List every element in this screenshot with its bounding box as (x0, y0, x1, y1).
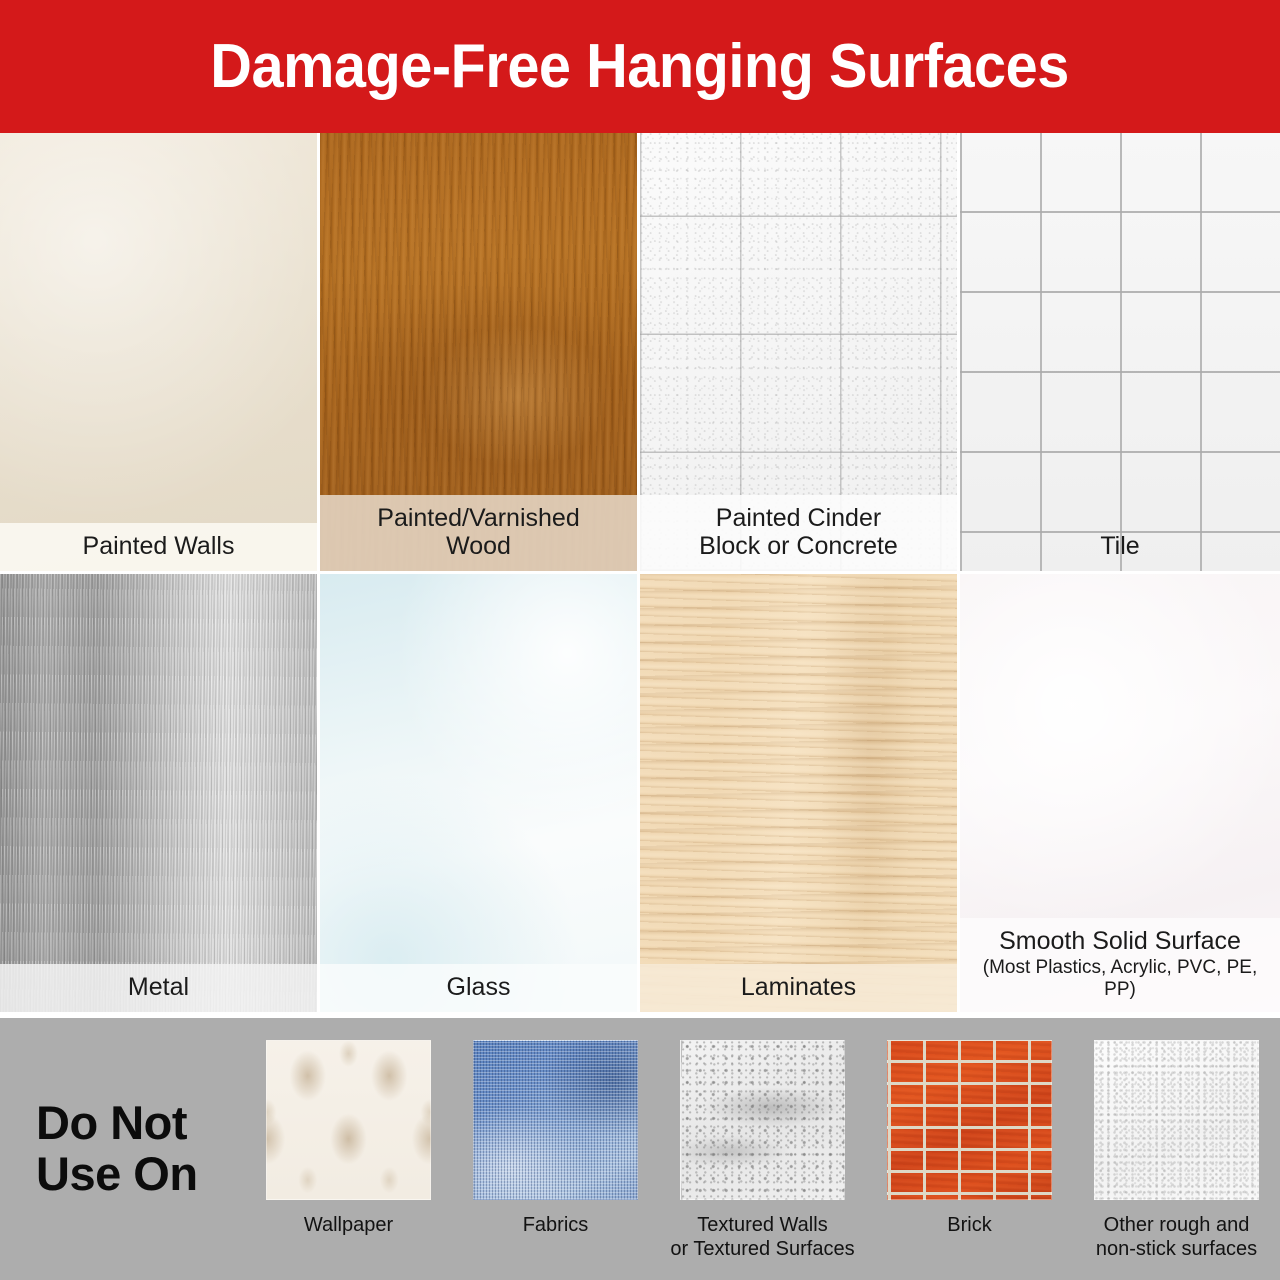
do-not-use-section: Do Not Use On Wallpaper Fabrics Te (0, 1018, 1280, 1280)
surface-caption: Smooth Solid Surface (Most Plastics, Acr… (960, 918, 1280, 1012)
denim-fabric-swatch (473, 1040, 638, 1200)
surface-cell-varnished-wood: Painted/Varnished Wood (320, 133, 640, 574)
do-not-use-items: Wallpaper Fabrics Textured Walls or Text… (245, 1018, 1280, 1261)
do-not-use-label: Textured Walls or Textured Surfaces (670, 1213, 854, 1261)
surface-caption: Metal (0, 964, 317, 1012)
do-not-use-label-line1: Wallpaper (304, 1213, 393, 1237)
surface-caption: Glass (320, 964, 637, 1012)
do-not-use-heading-line1: Do Not (36, 1098, 198, 1149)
do-not-use-label-line1: Textured Walls (670, 1213, 854, 1237)
surface-label: Glass (447, 973, 511, 1001)
glass-texture (320, 574, 637, 1012)
surface-label-line2: Wood (446, 532, 511, 560)
surface-cell-painted-walls: Painted Walls (0, 133, 320, 574)
painted-wall-texture (0, 133, 317, 571)
damask-wallpaper-swatch (266, 1040, 431, 1200)
surface-caption: Painted/Varnished Wood (320, 495, 637, 571)
do-not-use-label: Other rough and non-stick surfaces (1096, 1213, 1257, 1261)
surface-label: Painted Walls (83, 532, 235, 560)
surface-caption: Painted Cinder Block or Concrete (640, 495, 957, 571)
do-not-use-heading-line2: Use On (36, 1149, 198, 1200)
do-not-use-heading: Do Not Use On (0, 1018, 245, 1280)
surface-caption: Laminates (640, 964, 957, 1012)
surface-cell-smooth-solid-surface: Smooth Solid Surface (Most Plastics, Acr… (960, 574, 1280, 1015)
do-not-use-item-textured-walls: Textured Walls or Textured Surfaces (665, 1040, 860, 1261)
header-banner: Damage-Free Hanging Surfaces (0, 0, 1280, 133)
do-not-use-label: Wallpaper (304, 1213, 393, 1237)
surface-label: Laminates (741, 973, 856, 1001)
page-title: Damage-Free Hanging Surfaces (211, 31, 1070, 102)
do-not-use-label-line1: Other rough and (1096, 1213, 1257, 1237)
surface-cell-metal: Metal (0, 574, 320, 1015)
red-brick-swatch (887, 1040, 1052, 1200)
surface-label: Painted/Varnished (377, 504, 579, 532)
surface-cell-tile: Tile (960, 133, 1280, 574)
surface-label: Painted Cinder (716, 504, 881, 532)
surface-label-sub: (Most Plastics, Acrylic, PVC, PE, PP) (966, 957, 1274, 1001)
do-not-use-label-line1: Brick (947, 1213, 991, 1237)
do-not-use-label-line2: or Textured Surfaces (670, 1237, 854, 1261)
do-not-use-label: Brick (947, 1213, 991, 1237)
surface-label: Metal (128, 973, 189, 1001)
do-not-use-item-fabrics: Fabrics (458, 1040, 653, 1237)
surface-label: Smooth Solid Surface (999, 927, 1241, 955)
surface-cell-painted-cinder-block: Painted Cinder Block or Concrete (640, 133, 960, 574)
light-laminate-texture (640, 574, 957, 1012)
subway-tile-texture (960, 133, 1280, 571)
surface-compatibility-infographic: Damage-Free Hanging Surfaces Painted Wal… (0, 0, 1280, 1280)
do-not-use-item-brick: Brick (872, 1040, 1067, 1237)
surface-caption: Painted Walls (0, 523, 317, 571)
surface-label-line2: Block or Concrete (699, 532, 898, 560)
surface-cell-glass: Glass (320, 574, 640, 1015)
brushed-metal-texture (0, 574, 317, 1012)
stucco-textured-wall-swatch (680, 1040, 845, 1200)
do-not-use-item-wallpaper: Wallpaper (251, 1040, 446, 1237)
do-not-use-label-line1: Fabrics (523, 1213, 589, 1237)
approved-surfaces-grid: Painted Walls Painted/Varnished Wood Pai… (0, 133, 1280, 1015)
surface-caption: Tile (960, 523, 1280, 571)
do-not-use-item-rough-non-stick: Other rough and non-stick surfaces (1079, 1040, 1274, 1261)
surface-cell-laminates: Laminates (640, 574, 960, 1015)
surface-label: Tile (1100, 532, 1139, 560)
do-not-use-label-line2: non-stick surfaces (1096, 1237, 1257, 1261)
do-not-use-label: Fabrics (523, 1213, 589, 1237)
rough-non-stick-swatch (1094, 1040, 1259, 1200)
